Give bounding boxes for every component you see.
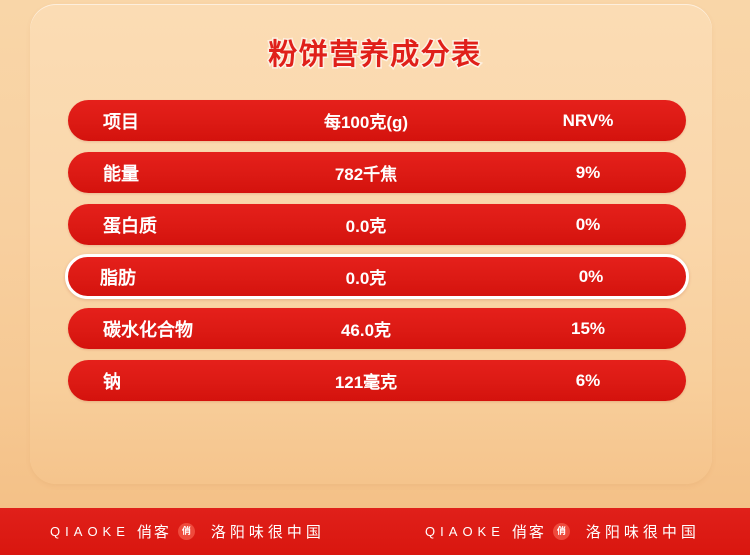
row-nrv: 9%	[528, 163, 648, 183]
table-row: 蛋白质 0.0克 0%	[68, 204, 686, 245]
table-row-highlighted: 脂肪 0.0克 0%	[65, 254, 689, 299]
row-nrv: 6%	[528, 371, 648, 391]
brand-logo-icon: 俏	[553, 523, 570, 540]
brand-name-en: QIAOKE	[50, 524, 130, 539]
row-nrv: 0%	[531, 267, 651, 287]
row-nrv: 0%	[528, 215, 648, 235]
header-cell-nrv: NRV%	[528, 111, 648, 131]
brand-slogan: 洛阳味很中国	[211, 521, 325, 542]
brand-name-cn: 俏客	[512, 521, 546, 542]
table-row: 能量 782千焦 9%	[68, 152, 686, 193]
brand-banner: QIAOKE 俏客 俏 洛阳味很中国 QIAOKE 俏客 俏 洛阳味很中国	[0, 508, 750, 555]
brand-logo-icon: 俏	[178, 523, 195, 540]
brand-slogan: 洛阳味很中国	[586, 521, 700, 542]
nutrition-table: 项目 每100克(g) NRV% 能量 782千焦 9% 蛋白质 0.0克 0%…	[68, 100, 686, 412]
table-row: 碳水化合物 46.0克 15%	[68, 308, 686, 349]
brand-unit: QIAOKE 俏客 俏 洛阳味很中国	[50, 521, 325, 542]
table-header-row: 项目 每100克(g) NRV%	[68, 100, 686, 141]
page-title: 粉饼营养成分表	[0, 31, 750, 73]
brand-unit: QIAOKE 俏客 俏 洛阳味很中国	[425, 521, 700, 542]
brand-name-cn: 俏客	[137, 521, 171, 542]
brand-name-en: QIAOKE	[425, 524, 505, 539]
table-row: 钠 121毫克 6%	[68, 360, 686, 401]
row-nrv: 15%	[528, 319, 648, 339]
